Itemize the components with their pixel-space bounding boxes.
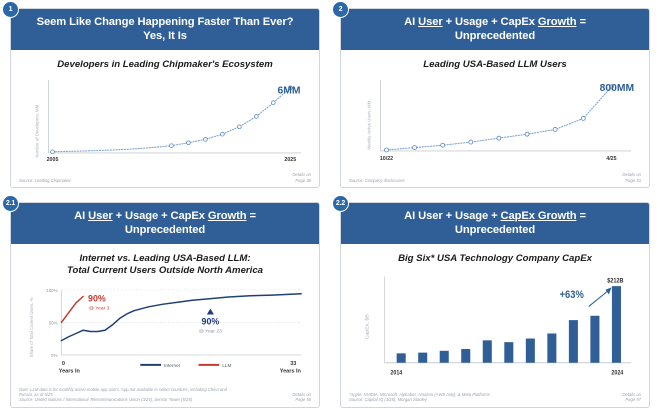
- data-point: [553, 127, 557, 131]
- series-llm: [61, 296, 83, 322]
- series-markers-2: [384, 84, 613, 151]
- data-point: [413, 145, 417, 149]
- y-axis-label-2: Weekly Active Users, MM: [367, 100, 372, 149]
- panel-footer-1: Source: Leading Chipmaker Details on Pag…: [11, 172, 319, 187]
- slide-grid: 1 Seem Like Change Happening Faster Than…: [0, 0, 660, 409]
- marker-arrow-internet: [207, 309, 214, 315]
- legend-label-internet: Internet: [164, 363, 181, 369]
- x-tick-end-1: 2025: [284, 156, 296, 162]
- bar: [590, 316, 599, 363]
- details-ref-2-2: Details on Page 97: [622, 392, 641, 403]
- panel-subtitle-2-2: Big Six* USA Technology Company CapEx: [341, 244, 649, 268]
- source-text-1: Source: Leading Chipmaker: [19, 178, 71, 183]
- panel-card-2-1: AI User + Usage + CapEx Growth =Unpreced…: [10, 202, 320, 408]
- data-point: [581, 116, 585, 120]
- chart-area-2: Weekly Active Users, MM 10/22 4/25 800MM: [341, 74, 649, 173]
- annotation-internet-sub: @ Year 23: [199, 328, 222, 334]
- value-annotation-2: 800MM: [600, 82, 635, 93]
- data-point: [525, 132, 529, 136]
- data-point: [384, 147, 388, 151]
- bar: [526, 339, 535, 363]
- footnote-block-2-2: *Apple, NVIDIA, Microsoft, Alphabet, Ama…: [349, 392, 490, 403]
- chart-area-1: Number of Developers, MM 2005 2025 6MM: [11, 74, 319, 173]
- data-point: [187, 140, 191, 144]
- x-tick-end-2: 4/25: [606, 155, 616, 161]
- panel-badge-2-1: 2.1: [2, 195, 19, 212]
- annotation-internet-value: 90%: [202, 316, 220, 326]
- data-point: [237, 124, 241, 128]
- source-text-2-2: Source: Capital IQ (3/25), Morgan Stanle…: [349, 397, 490, 402]
- chart-area-2-1: Share of Total Current Users, % 100% 50%…: [11, 280, 319, 387]
- x-tick-end-2-2: 2024: [611, 371, 623, 378]
- note-text-2-1: Note: LLM data is for monthly active mob…: [19, 387, 238, 398]
- y-axis-label-1: Number of Developers, MM: [35, 104, 40, 157]
- data-point: [271, 100, 275, 104]
- panel-card-1: Seem Like Change Happening Faster Than E…: [10, 8, 320, 188]
- y-tick-50: 50%: [49, 320, 58, 325]
- details-ref-2-1: Details on Page 56: [292, 392, 311, 403]
- data-point: [441, 143, 445, 147]
- growth-arrow-head: [606, 288, 612, 295]
- y-tick-100: 100%: [46, 288, 57, 293]
- legend-label-llm: LLM: [222, 363, 231, 369]
- bar-series-2-2: [397, 287, 621, 364]
- data-point: [497, 136, 501, 140]
- data-point: [469, 140, 473, 144]
- details-line2-2-2: Page 97: [622, 397, 641, 402]
- panel-1: 1 Seem Like Change Happening Faster Than…: [0, 0, 330, 194]
- panel-subtitle-2-1: Internet vs. Leading USA-Based LLM:Total…: [11, 244, 319, 280]
- panel-2: 2 AI User + Usage + CapEx Growth =Unprec…: [330, 0, 660, 194]
- details-line1-1: Details on: [292, 172, 311, 177]
- annotation-llm-sub: @ Year 3: [89, 306, 110, 312]
- panel-2-2: 2.2 AI User + Usage + CapEx Growth =Unpr…: [330, 194, 660, 409]
- panel-badge-1: 1: [2, 1, 19, 18]
- details-line2-2: Page 53: [622, 178, 641, 183]
- annotation-growth: +63%: [560, 290, 584, 302]
- panel-header-2: AI User + Usage + CapEx Growth =Unpreced…: [341, 9, 649, 50]
- bar-chart-2-2: CapEx, $B $212B +63% 2014 2024: [347, 267, 643, 391]
- bar: [440, 351, 449, 363]
- x-tick-start-2-2: 2014: [390, 371, 402, 378]
- x-tick-end-label-2-1: Years In: [280, 369, 302, 375]
- footnote-block-2-1: Note: LLM data is for monthly active mob…: [19, 387, 238, 403]
- panel-subtitle-2: Leading USA-Based LLM Users: [341, 50, 649, 74]
- x-tick-start-num-2-1: 0: [62, 361, 65, 367]
- x-tick-start-2: 10/22: [380, 155, 393, 161]
- x-tick-start-1: 2005: [47, 156, 59, 162]
- panel-footer-2-2: *Apple, NVIDIA, Microsoft, Alphabet, Ama…: [341, 392, 649, 407]
- data-point: [220, 132, 224, 136]
- panel-header-2-2: AI User + Usage + CapEx Growth =Unpreced…: [341, 203, 649, 244]
- source-text-2: Source: Company disclosures: [349, 178, 405, 183]
- x-tick-end-num-2-1: 33: [290, 361, 296, 367]
- details-ref-2: Details on Page 53: [622, 172, 641, 183]
- panel-header-2-1: AI User + Usage + CapEx Growth =Unpreced…: [11, 203, 319, 244]
- panel-footer-2: Source: Company disclosures Details on P…: [341, 172, 649, 187]
- chart-legend-2-1: Internet LLM: [140, 363, 231, 369]
- bar: [547, 334, 556, 363]
- data-point: [51, 149, 55, 153]
- series-markers-1: [51, 85, 293, 153]
- panel-subtitle-1: Developers in Leading Chipmaker's Ecosys…: [11, 50, 319, 74]
- panel-footer-2-1: Note: LLM data is for monthly active mob…: [11, 387, 319, 407]
- data-point: [204, 137, 208, 141]
- y-axis-label-2-1: Share of Total Current Users, %: [29, 297, 34, 357]
- y-axis-label-2-2: CapEx, $B: [365, 315, 370, 340]
- details-ref-1: Details on Page 38: [292, 172, 311, 183]
- panel-badge-2: 2: [332, 1, 349, 18]
- series-line-1: [53, 87, 291, 151]
- annotation-llm-value: 90%: [88, 294, 106, 304]
- details-line2-2-1: Page 56: [292, 397, 311, 402]
- y-tick-0: 0%: [51, 353, 57, 358]
- bar: [397, 354, 406, 363]
- value-annotation-1: 6MM: [277, 85, 300, 96]
- panel-card-2-2: AI User + Usage + CapEx Growth =Unpreced…: [340, 202, 650, 408]
- panel-card-2: AI User + Usage + CapEx Growth =Unpreced…: [340, 8, 650, 188]
- bar: [569, 321, 578, 364]
- bar: [504, 343, 513, 364]
- panel-2-1: 2.1 AI User + Usage + CapEx Growth =Unpr…: [0, 194, 330, 409]
- x-tick-start-label-2-1: Years In: [59, 369, 81, 375]
- details-line1-2: Details on: [622, 172, 641, 177]
- bar: [461, 349, 470, 363]
- bar: [483, 341, 492, 363]
- panel-header-1: Seem Like Change Happening Faster Than E…: [11, 9, 319, 50]
- annotation-capex-value: $212B: [607, 278, 624, 286]
- bar: [612, 287, 621, 364]
- line-chart-1: Number of Developers, MM 2005 2025 6MM: [17, 74, 313, 173]
- source-text-2-1: Source: United Nations / International T…: [19, 397, 238, 402]
- growth-arrow-line: [589, 290, 610, 307]
- chart-area-2-2: CapEx, $B $212B +63% 2014 2024: [341, 267, 649, 391]
- panel-badge-2-2: 2.2: [332, 195, 349, 212]
- bar: [418, 353, 427, 363]
- data-point: [170, 143, 174, 147]
- data-point: [254, 114, 258, 118]
- line-chart-2-1: Share of Total Current Users, % 100% 50%…: [17, 280, 313, 387]
- details-line2-1: Page 38: [292, 178, 311, 183]
- line-chart-2: Weekly Active Users, MM 10/22 4/25 800MM: [347, 74, 643, 173]
